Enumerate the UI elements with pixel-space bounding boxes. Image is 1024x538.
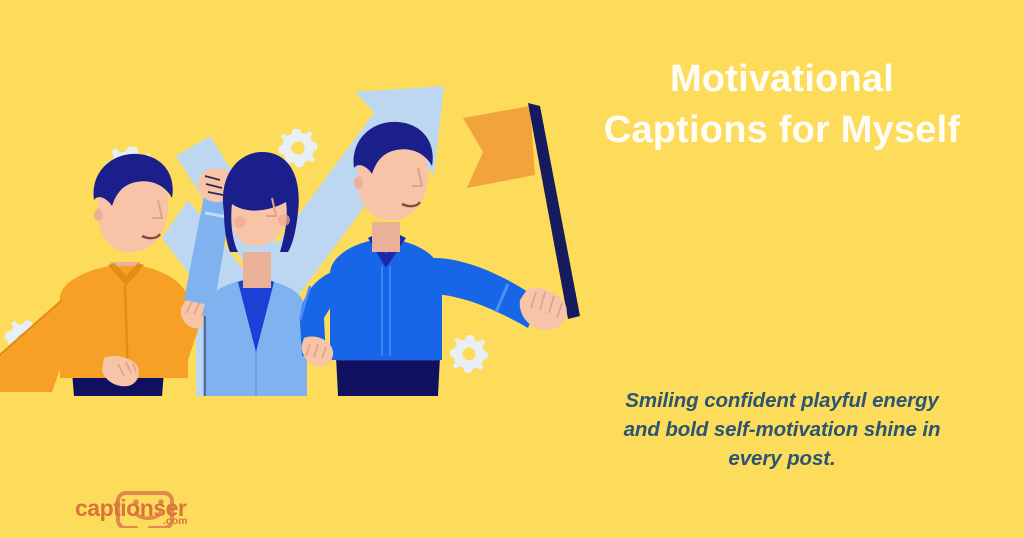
hero-illustration bbox=[0, 0, 620, 400]
page-subtitle-line-3: every post. bbox=[556, 444, 1008, 473]
gear-small-center-icon bbox=[449, 334, 490, 375]
page-subtitle: Smiling confident playful energy and bol… bbox=[556, 386, 1008, 473]
page-title-line-1: Motivational bbox=[556, 54, 1008, 105]
poster-canvas: Motivational Captions for Myself Smiling… bbox=[0, 0, 1024, 538]
character-orange-shirt bbox=[0, 154, 212, 396]
logo-suffix: .com bbox=[163, 515, 188, 527]
page-title: Motivational Captions for Myself bbox=[556, 54, 1008, 156]
page-title-line-2: Captions for Myself bbox=[556, 105, 1008, 156]
page-subtitle-line-2: and bold self-motivation shine in bbox=[556, 415, 1008, 444]
page-subtitle-line-1: Smiling confident playful energy bbox=[556, 386, 1008, 415]
brand-logo[interactable]: captionser .com bbox=[74, 484, 202, 528]
